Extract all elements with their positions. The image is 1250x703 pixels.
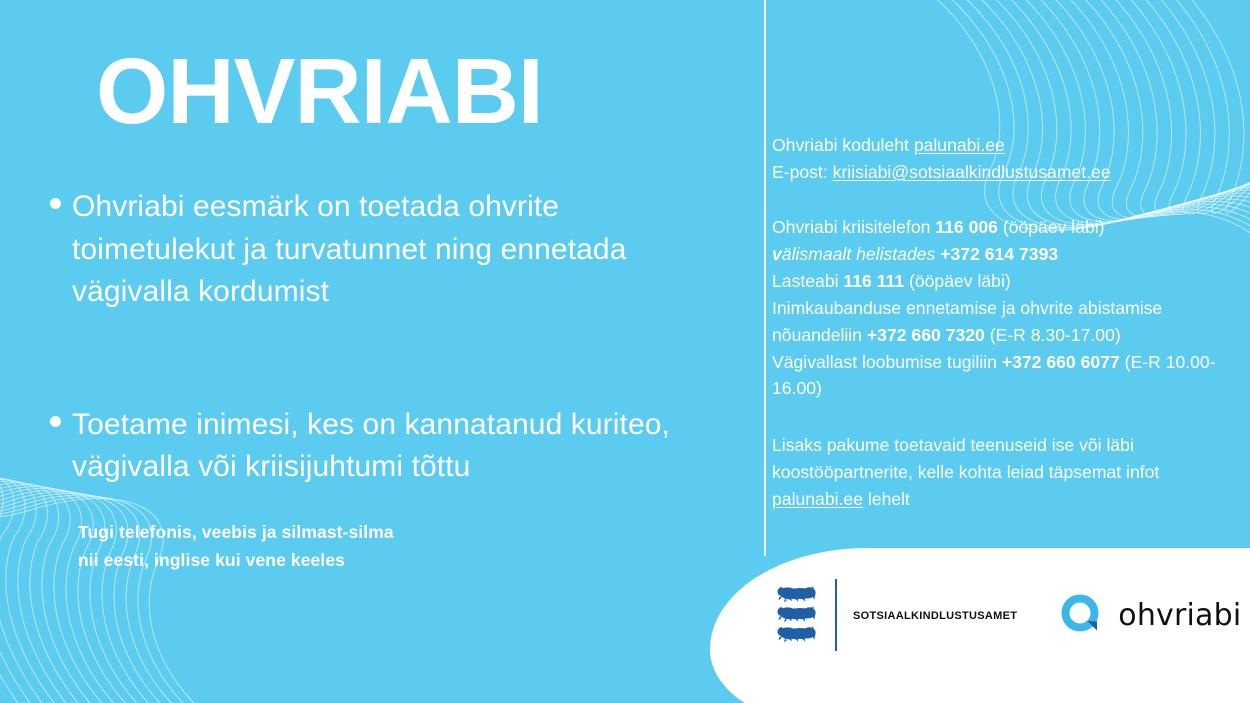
page-title: OHVRIABI [96, 44, 543, 139]
abroad-helpline-label: välismaalt helistades [772, 244, 935, 264]
abroad-label-initial: v [772, 244, 782, 264]
crisis-helpline-number: 116 006 [935, 217, 998, 237]
child-helpline-note: (ööpäev läbi) [909, 271, 1011, 291]
child-helpline-line: Lasteabi 116 111 (ööpäev läbi) [772, 268, 1220, 295]
website-label: Ohvriabi koduleht [772, 135, 909, 155]
violence-helpline-number: +372 660 6077 [1002, 352, 1120, 372]
email-link[interactable]: kriisiabi@sotsiaalkindlustusamet.ee [833, 162, 1111, 182]
tagline-line-1: Tugi telefonis, veebis ja silmast-silma [78, 518, 394, 546]
logo-separator [835, 579, 837, 651]
additional-services-text: Lisaks pakume toetavaid teenuseid ise võ… [772, 435, 1159, 482]
ohvriabi-mark-icon [1059, 592, 1105, 638]
abroad-helpline-line: välismaalt helistades +372 614 7393 [772, 241, 1220, 268]
crisis-helpline-note: (ööpäev läbi) [1003, 217, 1105, 237]
additional-services-link[interactable]: palunabi.ee [772, 489, 863, 509]
abroad-label-rest: älismaalt helistades [782, 244, 936, 264]
child-helpline-label: Lasteabi [772, 271, 839, 291]
logo-row: Sotsiaalkindlustusamet ohvriabi [775, 570, 1215, 660]
estonian-coat-of-arms-icon [775, 584, 817, 646]
tagline: Tugi telefonis, veebis ja silmast-silma … [78, 518, 394, 575]
column-divider [764, 0, 766, 556]
trafficking-helpline-note: (E-R 8.30-17.00) [990, 325, 1121, 345]
email-label: E-post: [772, 162, 828, 182]
abroad-helpline-number: +372 614 7393 [940, 244, 1058, 264]
violence-helpline-label: Vägivallast loobumise tugiliin [772, 352, 997, 372]
trafficking-helpline-number: +372 660 7320 [867, 325, 985, 345]
list-item: Ohvriabi eesmärk on toetada ohvrite toim… [46, 186, 726, 314]
crisis-helpline-line: Ohvriabi kriisitelefon 116 006 (ööpäev l… [772, 214, 1220, 241]
website-line: Ohvriabi koduleht palunabi.ee [772, 132, 1220, 159]
helpline-block: Ohvriabi kriisitelefon 116 006 (ööpäev l… [772, 214, 1220, 402]
key-points-list: Ohvriabi eesmärk on toetada ohvrite toim… [46, 186, 726, 489]
left-column: OHVRIABI Ohvriabi eesmärk on toetada ohv… [0, 0, 745, 703]
additional-services-block: Lisaks pakume toetavaid teenuseid ise võ… [772, 432, 1220, 513]
website-link[interactable]: palunabi.ee [914, 135, 1005, 155]
violence-helpline-line: Vägivallast loobumise tugiliin +372 660 … [772, 349, 1220, 403]
tagline-line-2: nii eesti, inglise kui vene keeles [78, 546, 394, 574]
crisis-helpline-label: Ohvriabi kriisitelefon [772, 217, 930, 237]
additional-services-suffix: lehelt [868, 489, 910, 509]
trafficking-helpline-line: Inimkaubanduse ennetamise ja ohvrite abi… [772, 295, 1220, 349]
child-helpline-number: 116 111 [843, 271, 904, 291]
poster-root: OHVRIABI Ohvriabi eesmärk on toetada ohv… [0, 0, 1250, 703]
contact-block: Ohvriabi koduleht palunabi.ee E-post: kr… [772, 132, 1220, 186]
email-line: E-post: kriisiabi@sotsiaalkindlustusamet… [772, 159, 1220, 186]
government-logo: Sotsiaalkindlustusamet [775, 574, 1017, 656]
list-item: Toetame inimesi, kes on kannatanud kurit… [46, 404, 726, 489]
ohvriabi-wordmark: ohvriabi [1118, 598, 1241, 633]
government-agency-name: Sotsiaalkindlustusamet [853, 606, 1017, 624]
ohvriabi-logo: ohvriabi [1059, 592, 1241, 638]
